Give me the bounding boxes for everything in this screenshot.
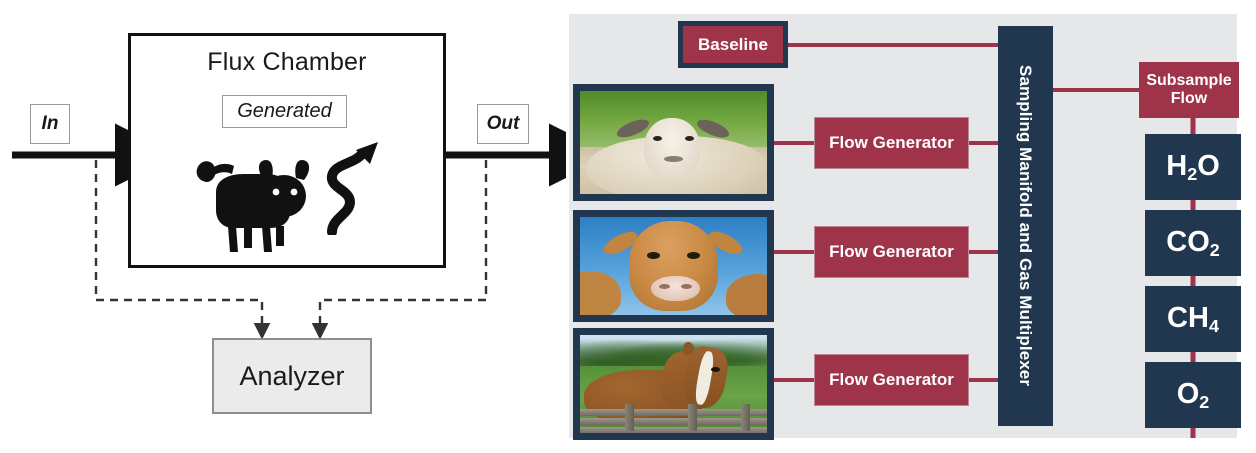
node-sampling-manifold[interactable]: Sampling Manifold and Gas Multiplexer [998,26,1053,426]
generated-label-box: Generated [222,95,347,128]
analyzer-box: Analyzer [212,338,372,414]
sheep-photo [573,84,774,201]
node-flow-generator-1-label: Flow Generator [829,133,954,152]
node-sampling-manifold-label: Sampling Manifold and Gas Multiplexer [1016,65,1035,386]
flux-chamber-schematic-panel: Flux Chamber Generated [0,0,566,453]
cow-silhouette-icon [186,140,316,260]
node-gas-h2o[interactable]: H2O [1145,134,1241,200]
sampling-system-panel: Baseline [569,14,1237,438]
horse-photo [573,328,774,440]
flux-chamber-title: Flux Chamber [128,48,446,77]
node-subsample-flow[interactable]: Subsample Flow [1139,62,1239,118]
figure-root: Flux Chamber Generated [0,0,1256,453]
node-gas-o2-label: O2 [1177,378,1210,412]
emission-squiggle-arrow-icon [316,140,386,235]
node-gas-ch4[interactable]: CH4 [1145,286,1241,352]
node-gas-h2o-label: H2O [1166,150,1220,184]
horse-photo-image [580,335,767,433]
inlet-label: In [30,104,70,144]
outlet-label: Out [477,104,529,144]
node-flow-generator-2[interactable]: Flow Generator [814,226,969,278]
node-gas-co2[interactable]: CO2 [1145,210,1241,276]
node-gas-ch4-label: CH4 [1167,302,1219,336]
node-gas-co2-label: CO2 [1166,226,1220,260]
node-baseline[interactable]: Baseline [678,21,788,68]
node-flow-generator-2-label: Flow Generator [829,242,954,261]
cow-photo [573,210,774,322]
cow-photo-image [580,217,767,315]
sheep-photo-image [580,91,767,194]
node-flow-generator-3-label: Flow Generator [829,370,954,389]
node-gas-o2[interactable]: O2 [1145,362,1241,428]
node-subsample-flow-label: Subsample Flow [1143,72,1235,108]
node-flow-generator-3[interactable]: Flow Generator [814,354,969,406]
node-baseline-label: Baseline [683,26,783,63]
node-flow-generator-1[interactable]: Flow Generator [814,117,969,169]
